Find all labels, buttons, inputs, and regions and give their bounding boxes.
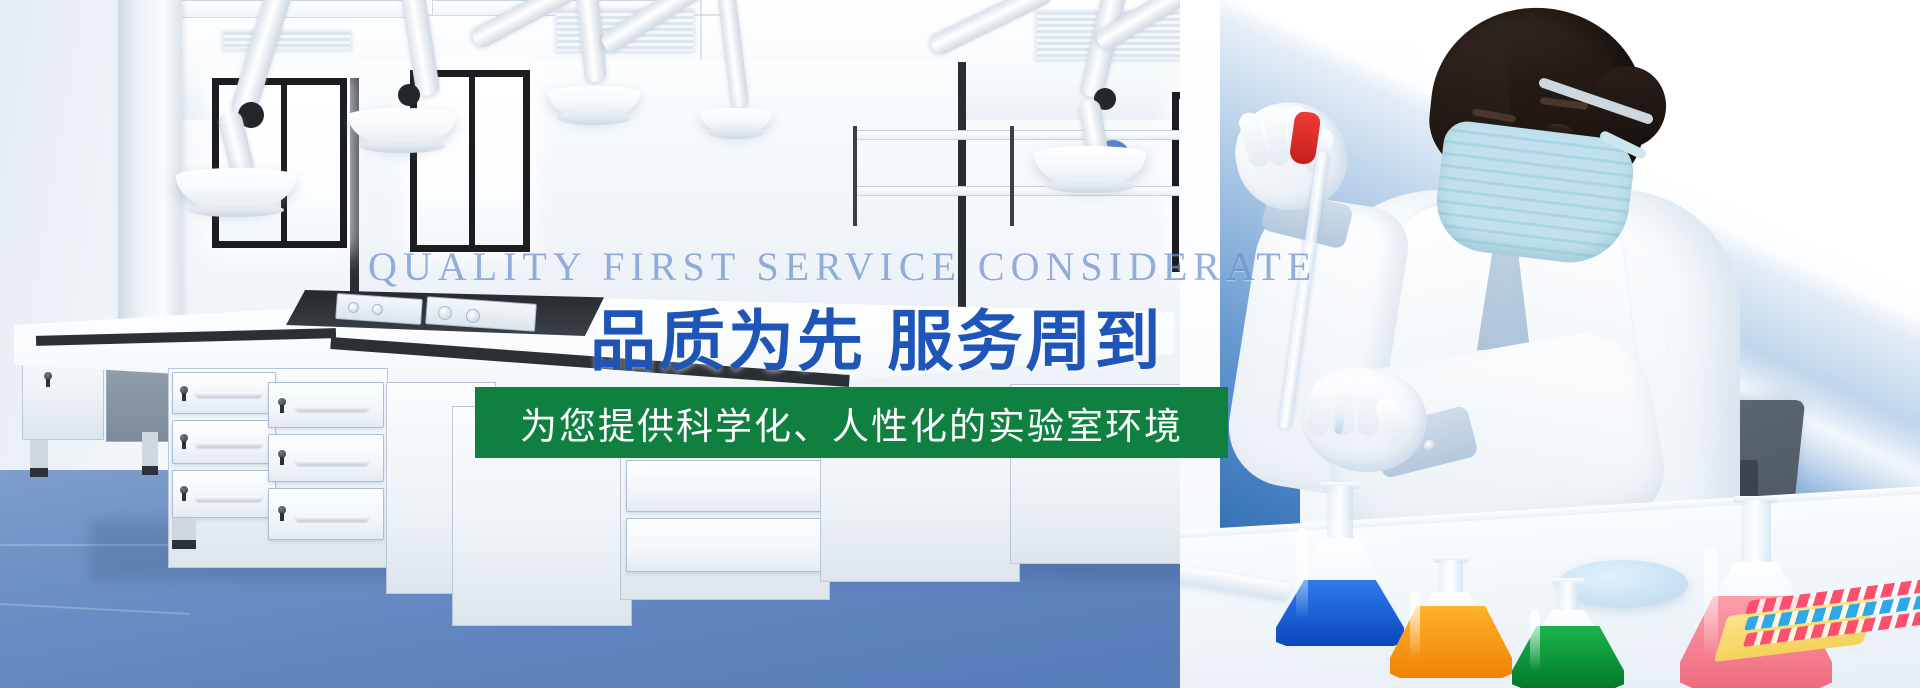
flask-neck	[1439, 560, 1463, 596]
flask-liquid-orange	[1390, 606, 1512, 678]
cabinet-leg	[142, 432, 158, 466]
cabinet-leg	[30, 440, 48, 468]
dome-lamp	[1034, 146, 1146, 188]
flask-highlight	[1530, 610, 1540, 671]
shelf-upright	[853, 126, 857, 226]
service-knob	[438, 306, 452, 320]
ceiling-air-vent	[222, 30, 352, 50]
cuff-button	[1424, 440, 1436, 452]
window-mullion	[281, 85, 287, 241]
banner-subtitle-bar: 为您提供科学化、人性化的实验室环境	[475, 387, 1228, 458]
bench-drawer	[268, 488, 384, 540]
bench-drawer	[268, 382, 384, 428]
overhead-reagent-shelf	[855, 186, 1185, 196]
bench-drawer	[626, 460, 824, 512]
flask-highlight	[1410, 591, 1421, 659]
flask-highlight	[1704, 549, 1718, 658]
flask-liquid-green	[1512, 626, 1624, 688]
flask-neck	[1741, 500, 1771, 572]
scientist-pipetting-photo	[1180, 0, 1920, 688]
shelf-upright	[1010, 126, 1014, 226]
drawer-lock	[278, 506, 286, 514]
lab-promo-banner: QUALITY FIRST SERVICE CONSIDERATE 品质为先 服…	[0, 0, 1920, 688]
drawer-lock	[180, 386, 188, 394]
service-knob	[372, 304, 383, 315]
drawer-handle	[196, 442, 262, 447]
banner-subtitle-text: 为您提供科学化、人性化的实验室环境	[520, 396, 1183, 450]
drawer-handle	[296, 406, 368, 411]
drawer-handle	[196, 392, 262, 397]
green-flask	[1512, 582, 1624, 688]
drawer-handle	[296, 516, 368, 521]
flask-highlight	[1296, 528, 1308, 621]
drawer-lock	[180, 486, 188, 494]
dome-lamp	[548, 86, 640, 120]
overhead-reagent-shelf	[855, 130, 1185, 140]
dome-lamp	[348, 108, 456, 148]
banner-eyebrow-text: QUALITY FIRST SERVICE CONSIDERATE	[368, 243, 1317, 290]
structural-pillar	[118, 0, 182, 330]
ceiling-light-panel	[168, 0, 418, 18]
flask-neck	[1557, 582, 1579, 614]
banner-headline: 品质为先 服务周到	[590, 288, 1163, 384]
service-knob	[466, 309, 480, 323]
cabinet-leg	[172, 518, 196, 540]
drawer-lock	[180, 434, 188, 442]
cabinet-lock	[44, 372, 52, 380]
arm-joint	[398, 84, 420, 106]
window-mullion	[469, 77, 475, 245]
orange-flask	[1390, 560, 1512, 678]
drawer-lock	[278, 450, 286, 458]
exterior-window	[410, 70, 530, 252]
bench-drawer	[268, 434, 384, 482]
drawer-handle	[296, 460, 368, 465]
dome-lamp	[700, 108, 772, 134]
blue-flask	[1276, 486, 1404, 646]
service-knob	[348, 302, 359, 313]
bench-drawer	[172, 470, 276, 518]
drawer-lock	[278, 398, 286, 406]
drawer-handle	[196, 496, 262, 501]
bench-drawer	[626, 518, 824, 572]
